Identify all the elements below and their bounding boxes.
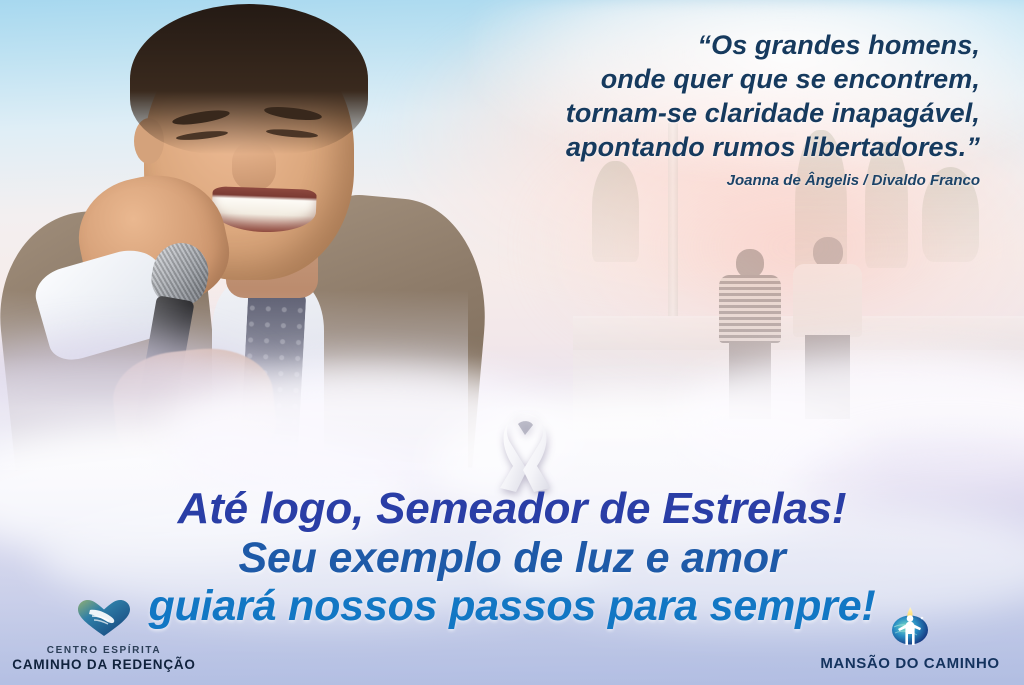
figure-torso: [719, 275, 781, 343]
quote-line-4: apontando rumos libertadores.”: [360, 130, 980, 164]
logo-centro-espirita-caminho-da-redencao: CENTRO ESPÍRITA CAMINHO DA REDENÇÃO: [4, 599, 204, 673]
quote-line-2: onde quer que se encontrem,: [360, 62, 980, 96]
figure-head: [736, 249, 764, 278]
quote-attribution: Joanna de Ângelis / Divaldo Franco: [360, 172, 980, 189]
globe-figure-flame-icon: [802, 605, 1018, 652]
figure-head: [813, 237, 843, 268]
logo-left-line-1: CENTRO ESPÍRITA: [4, 645, 204, 657]
quote-text: “Os grandes homens, onde quer que se enc…: [360, 28, 980, 164]
logo-left-line-2: CAMINHO DA REDENÇÃO: [4, 657, 204, 673]
quote-line-1: “Os grandes homens,: [360, 28, 980, 62]
logo-right-line-1: MANSÃO DO CAMINHO: [802, 655, 1018, 673]
headline-line-1: Até logo, Semeador de Estrelas!: [0, 486, 1024, 532]
heart-hands-icon: [4, 599, 204, 642]
nose: [232, 142, 276, 190]
logo-mansao-do-caminho: MANSÃO DO CAMINHO: [802, 605, 1018, 673]
white-mourning-ribbon-icon: [486, 408, 564, 496]
tribute-poster: “Os grandes homens, onde quer que se enc…: [0, 0, 1024, 685]
figure-torso: [793, 264, 862, 337]
quote-line-3: tornam-se claridade inapagável,: [360, 96, 980, 130]
headline-line-2: Seu exemplo de luz e amor: [0, 536, 1024, 581]
hair: [130, 4, 368, 154]
